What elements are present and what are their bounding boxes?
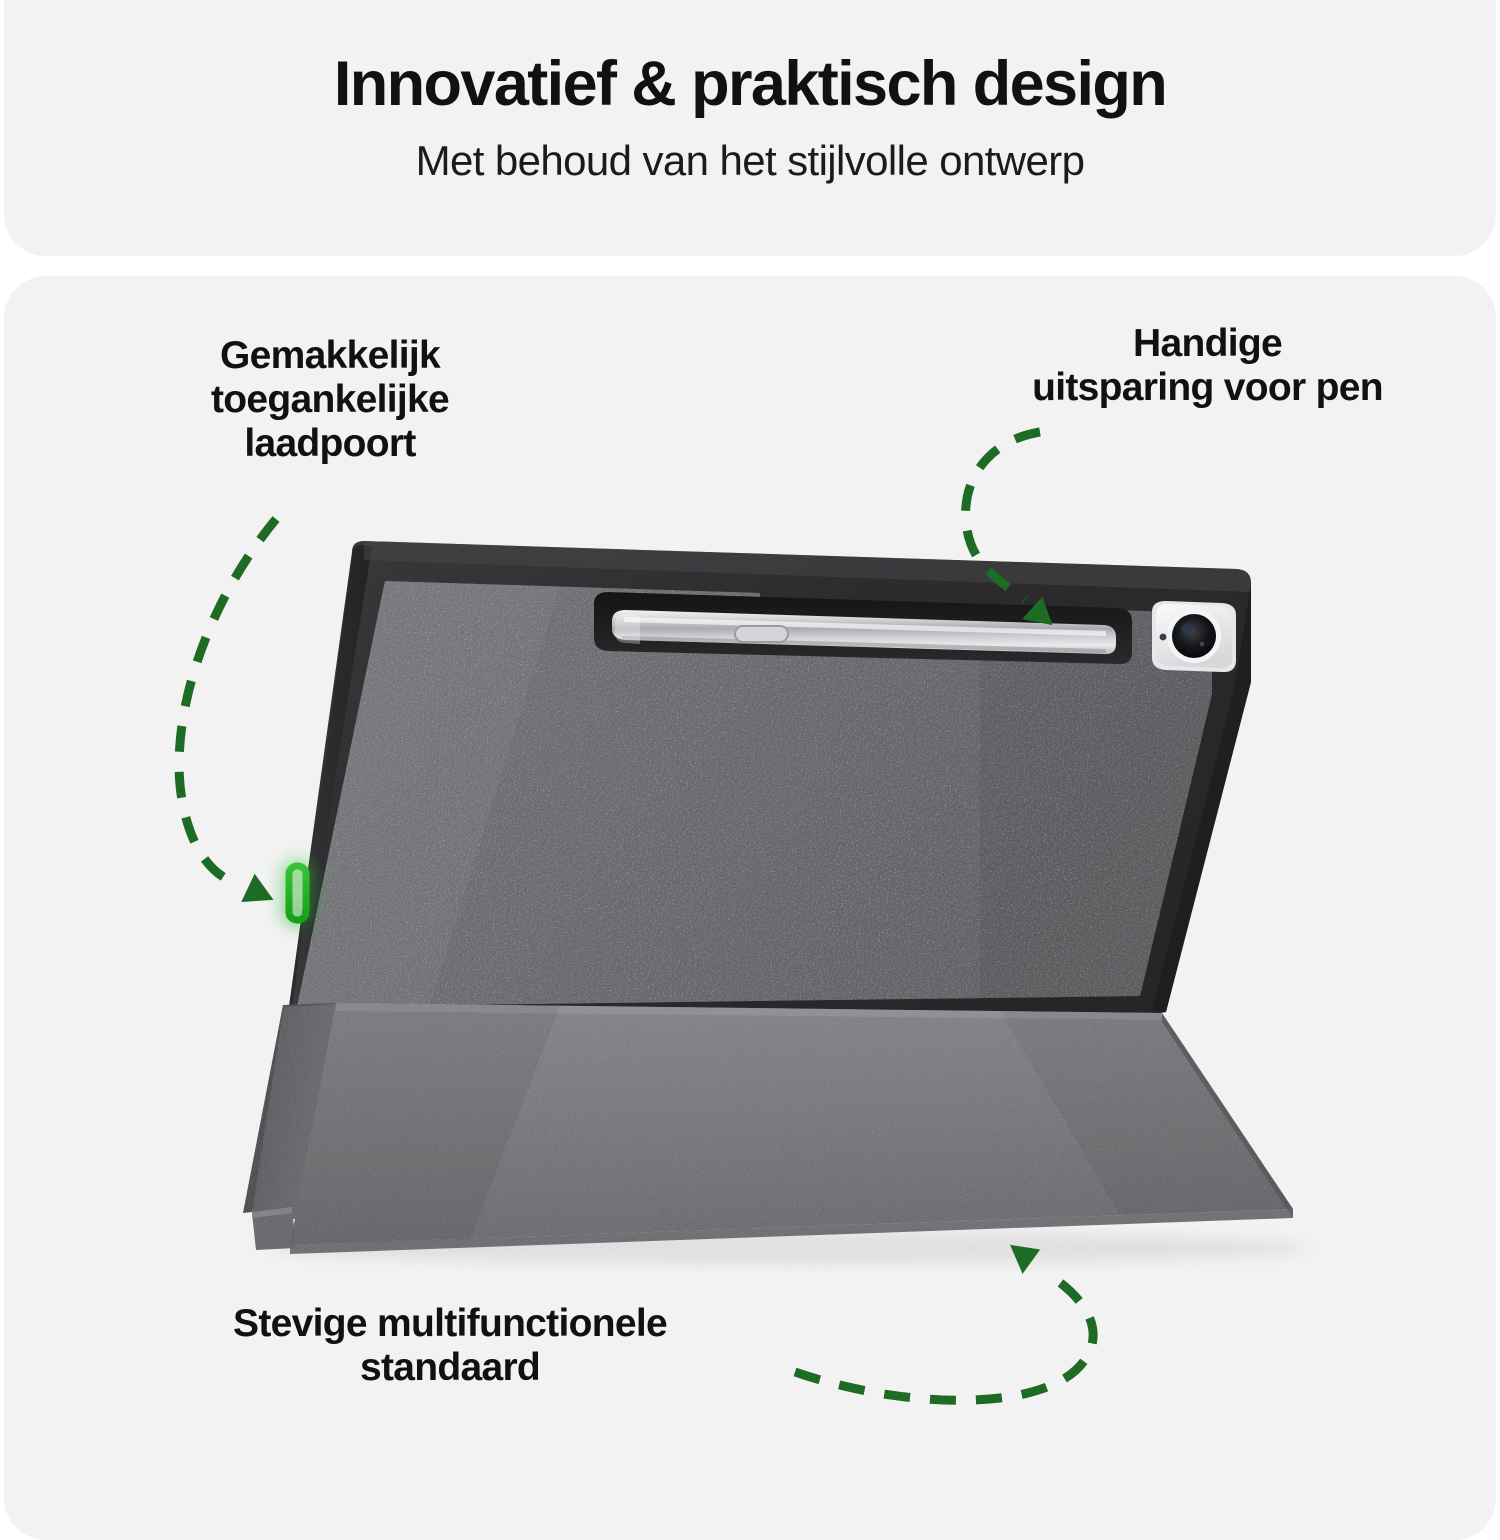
camera-cutout [1152, 601, 1236, 672]
callout-line: Stevige multifunctionele [120, 1302, 780, 1346]
charging-port-highlight [289, 866, 306, 920]
callout-charging-port: Gemakkelijk toegankelijke laadpoort [100, 334, 560, 466]
camera-lens [1172, 614, 1216, 658]
camera-flash [1160, 634, 1167, 641]
callout-line: Gemakkelijk [100, 334, 560, 378]
kickstand [243, 1003, 1293, 1254]
callout-stand: Stevige multifunctionele standaard [120, 1302, 780, 1390]
callout-line: uitsparing voor pen [935, 366, 1480, 410]
callout-line: laadpoort [100, 422, 560, 466]
stylus-button [735, 626, 788, 642]
callout-line: toegankelijke [100, 378, 560, 422]
callout-line: standaard [120, 1346, 780, 1390]
callout-pen-cutout: Handige uitsparing voor pen [935, 322, 1480, 410]
product-illustration [0, 0, 1500, 1500]
infographic-stage: Innovatief & praktisch design Met behoud… [0, 0, 1500, 1500]
callout-line: Handige [935, 322, 1480, 366]
